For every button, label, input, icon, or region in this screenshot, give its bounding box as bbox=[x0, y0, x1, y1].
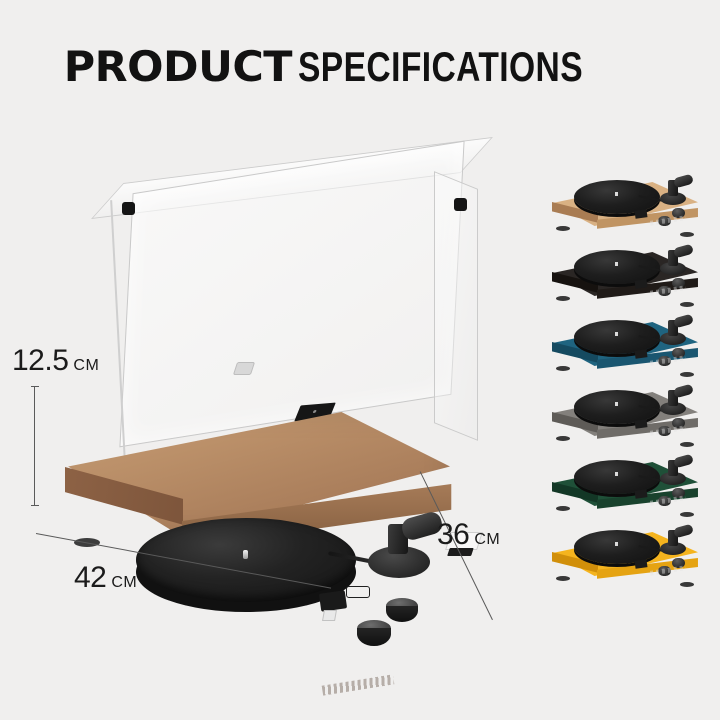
dimension-label-height: 12.5CM bbox=[12, 344, 99, 378]
color-variant-black[interactable] bbox=[538, 236, 714, 304]
dust-cover-hinge-right bbox=[454, 198, 467, 211]
variant-counterweight bbox=[673, 244, 694, 259]
control-knob-power bbox=[357, 620, 391, 648]
variant-spindle-icon bbox=[615, 402, 618, 406]
dimension-unit-height: CM bbox=[73, 357, 99, 374]
headshell bbox=[319, 590, 347, 611]
variant-spindle-icon bbox=[615, 542, 618, 546]
brand-engraving bbox=[322, 674, 395, 695]
color-variant-list bbox=[538, 166, 714, 586]
knob-skirt bbox=[357, 628, 391, 645]
variant-spindle-icon bbox=[615, 332, 618, 336]
color-variant-walnut[interactable] bbox=[538, 166, 714, 234]
dust-cover-hinge-left bbox=[122, 202, 135, 215]
dimension-label-depth: 36CM bbox=[437, 518, 500, 552]
tonearm-rest bbox=[346, 586, 370, 598]
color-variant-grey[interactable] bbox=[538, 376, 714, 444]
specification-sheet: PRODUCTSPECIFICATIONS bbox=[0, 0, 720, 720]
dimension-unit-depth: CM bbox=[474, 531, 500, 548]
variant-counterweight bbox=[673, 454, 694, 469]
color-variant-green[interactable] bbox=[538, 446, 714, 514]
variant-counterweight bbox=[673, 314, 694, 329]
dimension-unit-width: CM bbox=[111, 574, 137, 591]
title-bold-word: PRODUCT bbox=[64, 42, 292, 91]
variant-foot-left bbox=[556, 436, 570, 441]
variant-headshell bbox=[635, 489, 648, 499]
variant-counterweight bbox=[673, 524, 694, 539]
dust-cover-front-panel bbox=[119, 141, 464, 448]
variant-foot-left bbox=[556, 576, 570, 581]
variant-foot-left bbox=[556, 506, 570, 511]
variant-headshell bbox=[635, 419, 648, 429]
dimension-value-width: 42 bbox=[74, 561, 106, 594]
page-title: PRODUCTSPECIFICATIONS bbox=[0, 42, 720, 91]
spindle-icon bbox=[243, 550, 248, 559]
variant-headshell bbox=[635, 349, 648, 359]
color-variant-yellow[interactable] bbox=[538, 516, 714, 584]
variant-foot-left bbox=[556, 296, 570, 301]
product-illustration bbox=[30, 140, 500, 620]
variant-foot-left bbox=[556, 226, 570, 231]
variant-headshell bbox=[635, 559, 648, 569]
dust-cover-side-panel bbox=[434, 171, 478, 441]
variant-spindle-icon bbox=[615, 262, 618, 266]
dimension-label-width: 42CM bbox=[74, 561, 137, 595]
variant-counterweight bbox=[673, 384, 694, 399]
variant-counterweight bbox=[673, 174, 694, 189]
variant-foot-left bbox=[556, 366, 570, 371]
stylus-cartridge bbox=[322, 610, 337, 621]
variant-headshell bbox=[635, 279, 648, 289]
variant-headshell bbox=[635, 209, 648, 219]
variant-spindle-icon bbox=[615, 472, 618, 476]
color-variant-blue[interactable] bbox=[538, 306, 714, 374]
variant-spindle-icon bbox=[615, 192, 618, 196]
dimension-value-height: 12.5 bbox=[12, 344, 68, 377]
dimension-line-height bbox=[34, 386, 35, 506]
title-light-word: SPECIFICATIONS bbox=[298, 43, 583, 91]
platter-mat bbox=[136, 518, 356, 602]
dimension-value-depth: 36 bbox=[437, 518, 469, 551]
variant-foot-right bbox=[680, 582, 694, 587]
